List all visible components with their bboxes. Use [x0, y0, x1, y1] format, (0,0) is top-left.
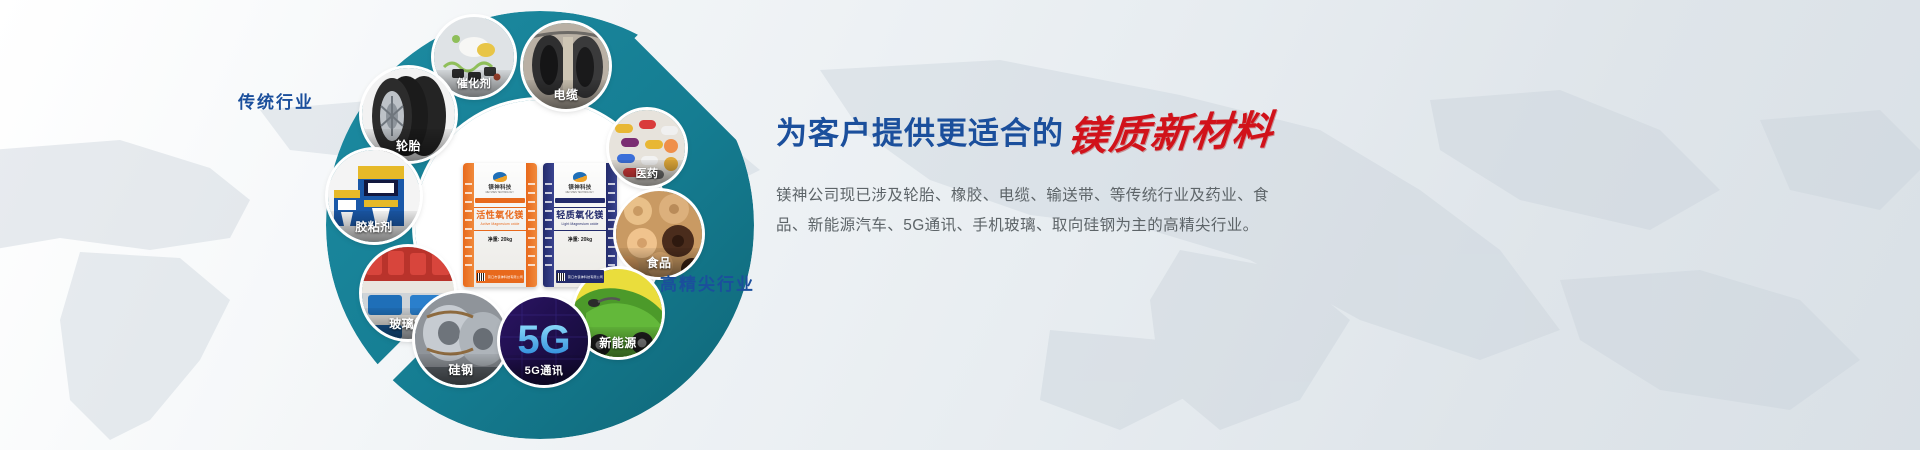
product-name-en: Light Magnesium oxide	[554, 222, 606, 226]
industry-node-food[interactable]: 食品	[616, 191, 702, 277]
bag-right-edge	[526, 163, 537, 287]
bag-footer: 营口市镁神科技有限公司	[476, 270, 524, 283]
brand-logo: 镁神科技 MEI SHEN TECHNOLOGY	[484, 172, 515, 194]
product-name-en: Active Magnesium oxide	[474, 222, 526, 226]
headline-blue-part: 为客户提供更适合的	[776, 108, 1064, 153]
brand-mark-icon	[493, 172, 507, 182]
industry-node-label: 5G通讯	[500, 355, 588, 385]
bag-left-edge	[463, 163, 474, 287]
product-bag-active-magnesium-oxide: 镁神科技 MEI SHEN TECHNOLOGY 活性氧化镁 Active Ma…	[463, 163, 537, 287]
headline-red-part: 镁质新材料	[1066, 113, 1275, 157]
brand-name-cn: 镁神科技	[488, 183, 511, 191]
brand-mark-icon	[573, 172, 587, 182]
industry-node-label: 电缆	[523, 80, 609, 109]
brand-name-cn: 镁神科技	[568, 183, 591, 191]
bag-left-edge	[543, 163, 554, 287]
industry-node-label: 医药	[609, 160, 685, 186]
bag-name-panel: 活性氧化镁 Active Magnesium oxide	[474, 207, 526, 231]
industry-node-adhesive[interactable]: 胶粘剂	[328, 150, 420, 242]
qr-code-icon	[477, 273, 485, 281]
banner-copy-block: 为客户提供更适合的 镁质新材料 镁神公司现已涉及轮胎、橡胶、电缆、输送带、等传统…	[776, 108, 1476, 241]
industry-node-silicon-steel[interactable]: 硅钢	[415, 293, 507, 385]
industry-node-5g[interactable]: 5G 5G通讯	[500, 297, 588, 385]
banner-stage: 镁神科技 MEI SHEN TECHNOLOGY 活性氧化镁 Active Ma…	[0, 0, 1920, 450]
industry-node-medicine[interactable]: 医药	[609, 110, 685, 186]
brand-name-en: MEI SHEN TECHNOLOGY	[486, 191, 514, 194]
brand-logo: 镁神科技 MEI SHEN TECHNOLOGY	[564, 172, 595, 194]
bag-band	[475, 198, 525, 203]
qr-code-icon	[557, 273, 565, 281]
bag-name-panel: 轻质氧化镁 Light Magnesium oxide	[554, 207, 606, 231]
industry-circle-diagram: 镁神科技 MEI SHEN TECHNOLOGY 活性氧化镁 Active Ma…	[320, 5, 760, 445]
net-weight: 净重: 20kg	[488, 236, 512, 243]
brand-name-en: MEI SHEN TECHNOLOGY	[566, 191, 594, 194]
banner-headline: 为客户提供更适合的 镁质新材料	[776, 108, 1476, 153]
product-name-cn: 轻质氧化镁	[554, 211, 606, 220]
bag-band	[555, 198, 605, 203]
net-weight: 净重: 20kg	[568, 236, 592, 243]
industry-node-label: 胶粘剂	[328, 211, 420, 242]
manufacturer-name: 营口市镁神科技有限公司	[488, 275, 523, 279]
industry-node-cable[interactable]: 电缆	[523, 23, 609, 109]
bag-footer: 营口市镁神科技有限公司	[556, 270, 604, 283]
banner-paragraph: 镁神公司现已涉及轮胎、橡胶、电缆、输送带、等传统行业及药业、食品、新能源汽车、5…	[776, 181, 1276, 241]
section-label-high-tech: 高精尖行业	[660, 270, 755, 295]
section-label-traditional: 传统行业	[238, 88, 314, 113]
industry-node-tire[interactable]: 轮胎	[362, 68, 455, 161]
product-name-cn: 活性氧化镁	[474, 211, 526, 220]
manufacturer-name: 营口市镁神科技有限公司	[568, 275, 603, 279]
industry-node-label: 硅钢	[415, 354, 507, 385]
